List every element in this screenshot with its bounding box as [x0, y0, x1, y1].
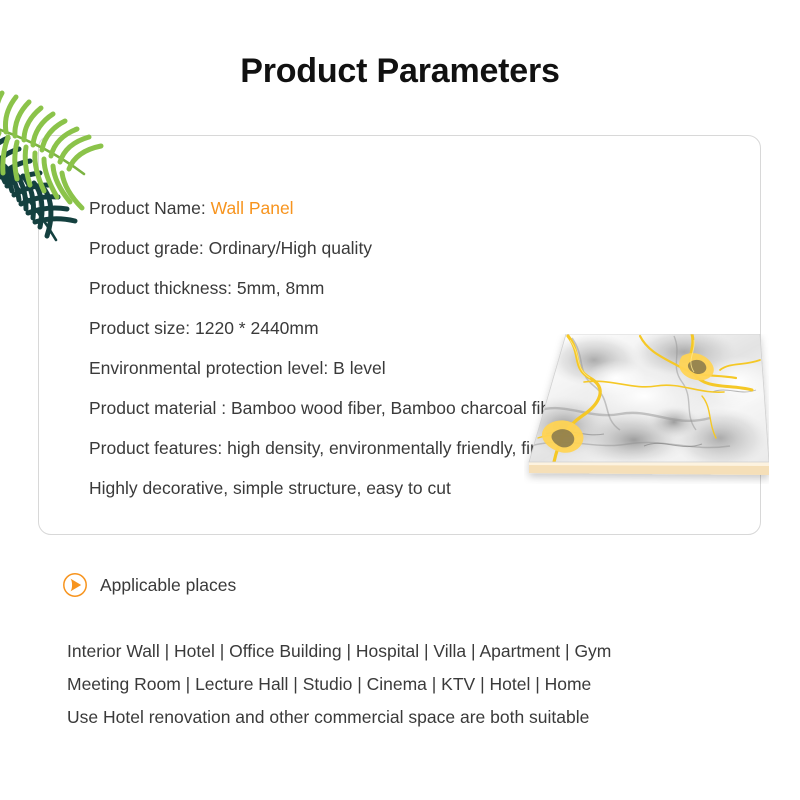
page-title: Product Parameters	[0, 52, 800, 91]
spec-row-product-grade: Product grade: Ordinary/High quality	[89, 228, 729, 268]
spec-label-product-thickness: Product thickness: 5mm, 8mm	[89, 278, 324, 298]
arrow-circle-right-icon	[62, 572, 88, 598]
spec-label-product-size: Product size: 1220 * 2440mm	[89, 318, 319, 338]
places-line-2: Meeting Room | Lecture Hall | Studio | C…	[67, 668, 767, 701]
panel-surface	[524, 334, 769, 468]
spec-label-environmental-level: Environmental protection level: B level	[89, 358, 386, 378]
applicable-places-list: Interior Wall | Hotel | Office Building …	[67, 635, 767, 734]
spec-card: Product Name: Wall Panel Product grade: …	[38, 135, 761, 535]
spec-row-product-name: Product Name: Wall Panel	[89, 188, 729, 228]
applicable-places-header: Applicable places	[62, 570, 762, 600]
spec-value-product-name: Wall Panel	[211, 198, 294, 218]
spec-label-decorative: Highly decorative, simple structure, eas…	[89, 478, 451, 498]
spec-label-product-material: Product material : Bamboo wood fiber, Ba…	[89, 398, 566, 418]
marble-wall-panel-image	[524, 334, 769, 484]
places-line-1: Interior Wall | Hotel | Office Building …	[67, 635, 767, 668]
places-line-3: Use Hotel renovation and other commercia…	[67, 701, 767, 734]
spec-label-product-grade: Product grade: Ordinary/High quality	[89, 238, 372, 258]
spec-label-product-name: Product Name:	[89, 198, 211, 218]
applicable-places-title: Applicable places	[100, 575, 236, 596]
spec-row-product-thickness: Product thickness: 5mm, 8mm	[89, 268, 729, 308]
applicable-places-section: Applicable places	[62, 570, 762, 600]
